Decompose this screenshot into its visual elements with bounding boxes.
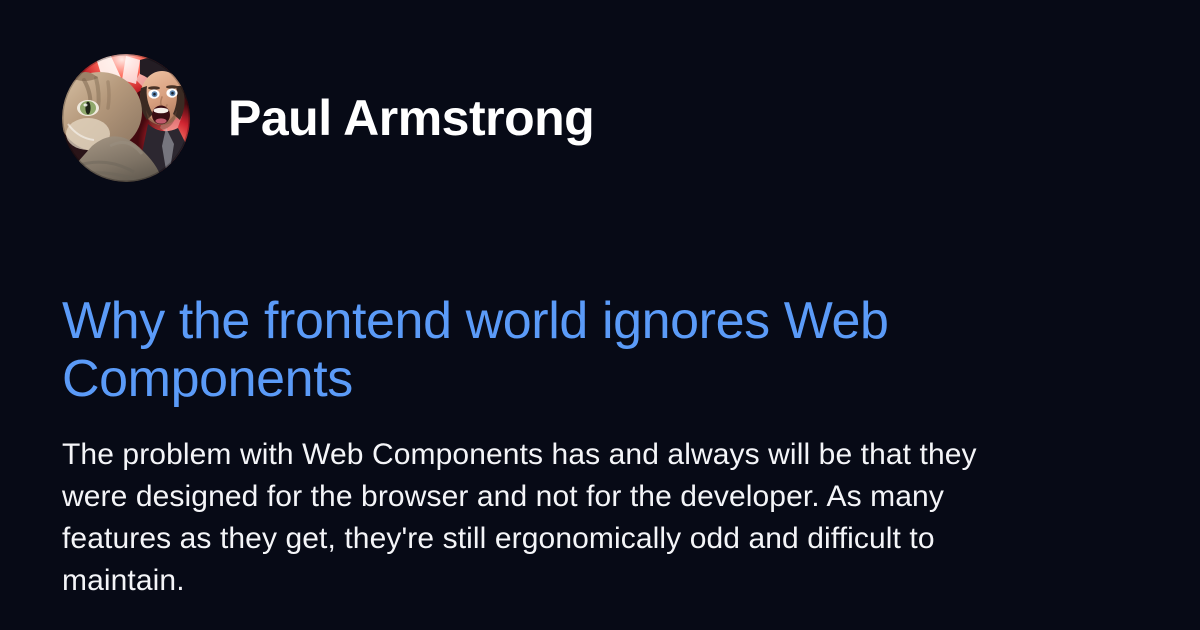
author-name: Paul Armstrong bbox=[228, 93, 594, 143]
post-block: Why the frontend world ignores Web Compo… bbox=[62, 292, 1052, 602]
post-description: The problem with Web Components has and … bbox=[62, 434, 1047, 602]
avatar-photo-icon bbox=[62, 54, 190, 182]
author-row: Paul Armstrong bbox=[62, 54, 594, 182]
avatar bbox=[62, 54, 190, 182]
social-share-card: Paul Armstrong Why the frontend world ig… bbox=[0, 0, 1200, 630]
post-title: Why the frontend world ignores Web Compo… bbox=[62, 292, 1037, 408]
